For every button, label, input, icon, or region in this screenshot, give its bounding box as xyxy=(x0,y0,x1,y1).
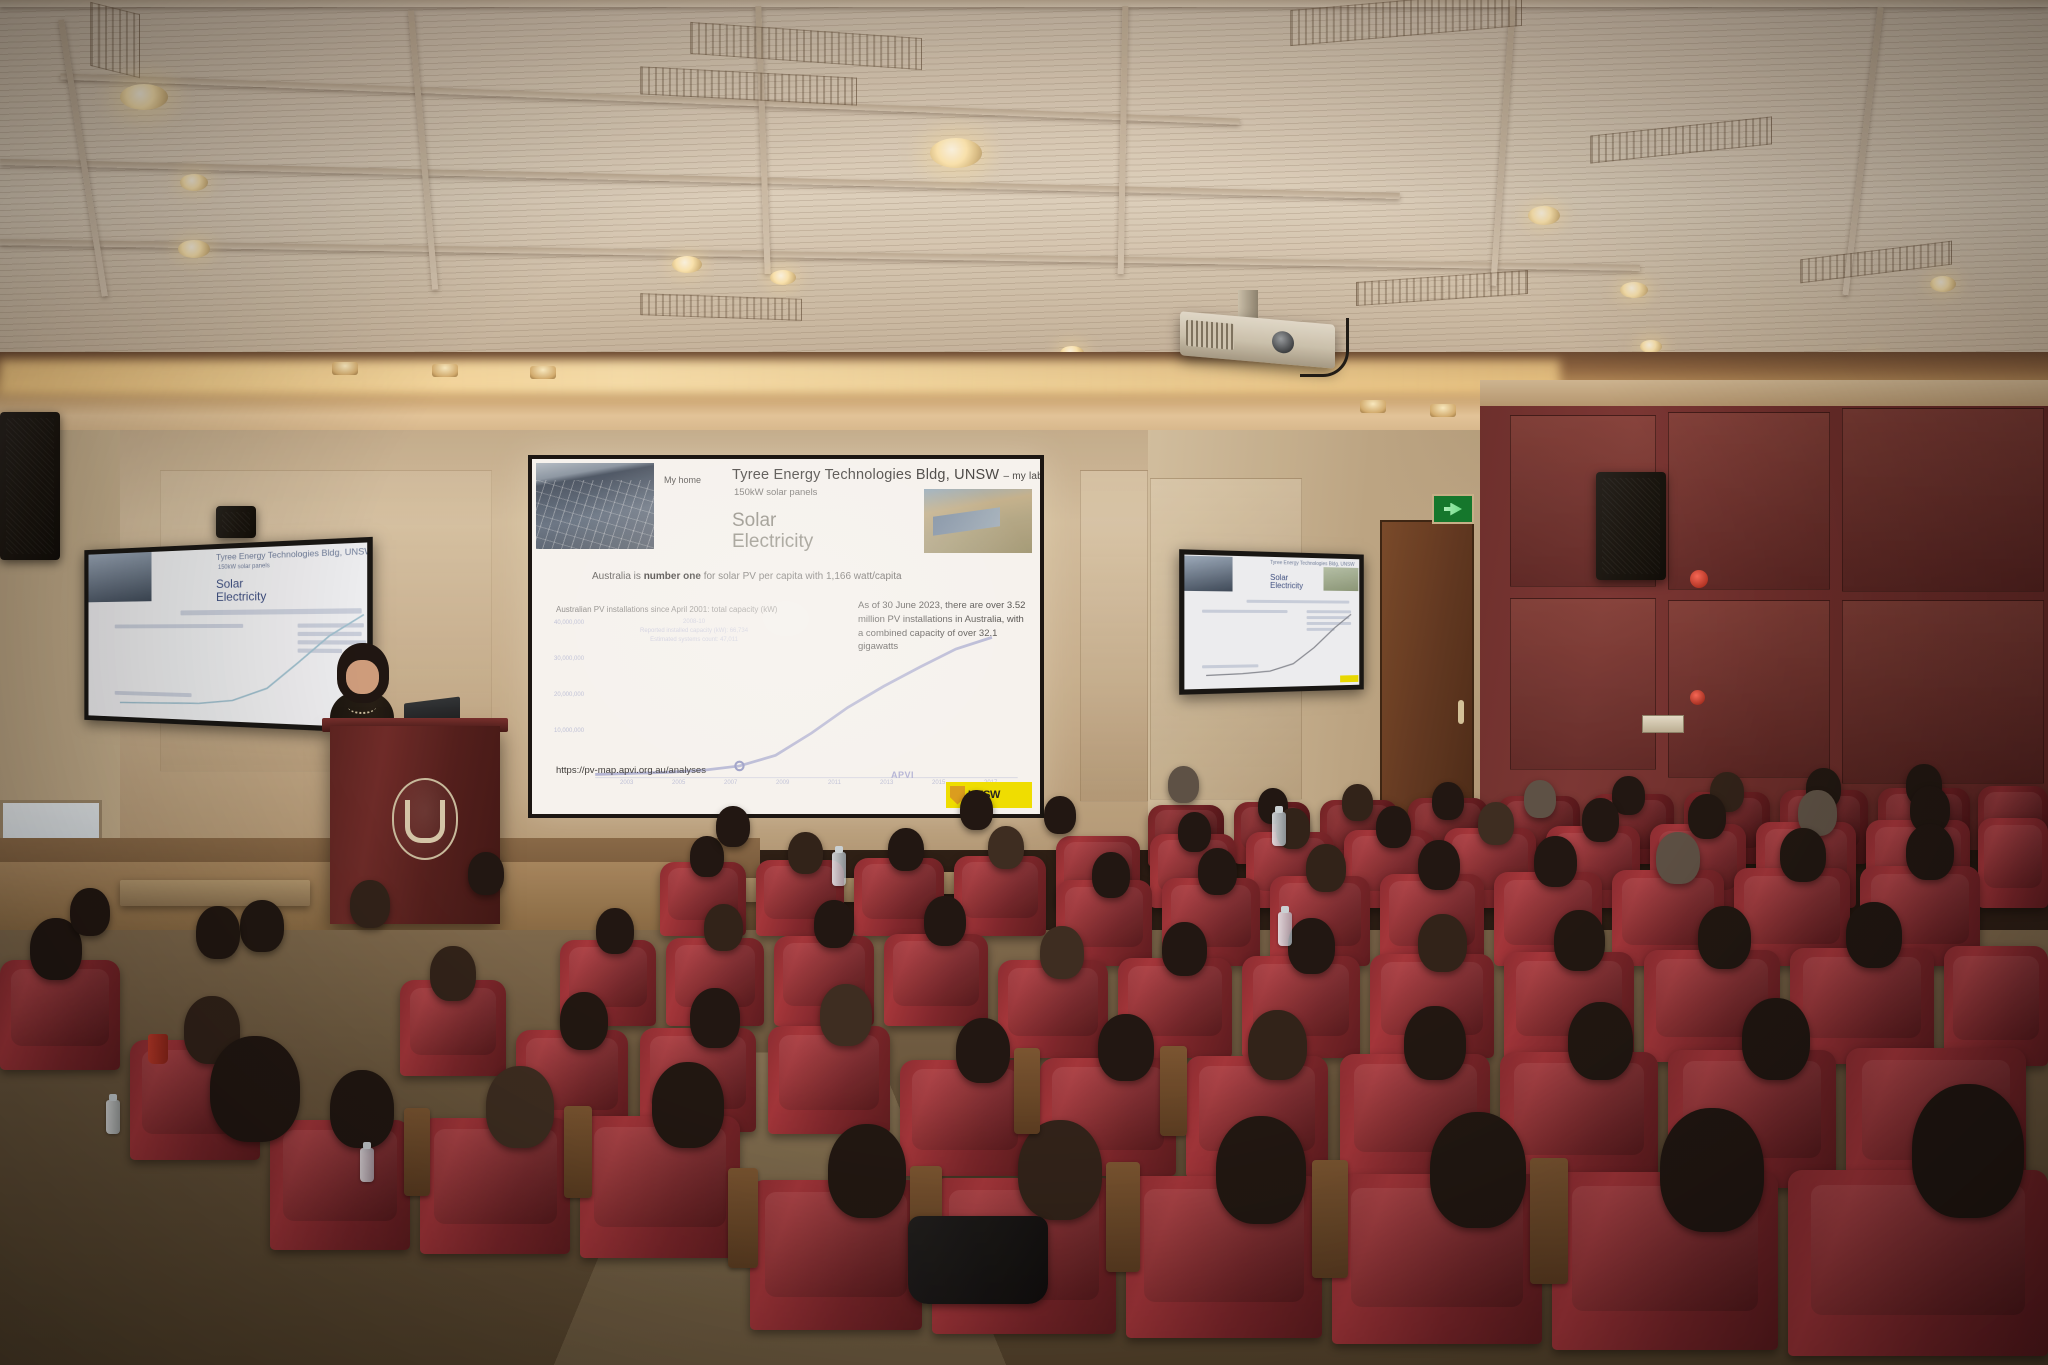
audience-head xyxy=(828,1124,906,1218)
audience-head xyxy=(70,888,110,936)
audience-head xyxy=(814,900,854,948)
ceiling-vent xyxy=(90,2,140,78)
audience-head xyxy=(596,908,634,954)
audience-head xyxy=(1162,922,1207,976)
audience-head xyxy=(1342,784,1373,821)
cove-lamp xyxy=(1430,404,1456,417)
audience-head xyxy=(1306,844,1346,892)
x-tick: 2005 xyxy=(672,780,685,786)
seat[interactable] xyxy=(1978,818,2048,908)
ceiling-light xyxy=(672,256,702,273)
wood-panel xyxy=(1842,408,2044,592)
audience-head xyxy=(1906,824,1954,880)
x-tick: 2009 xyxy=(776,780,789,786)
audience-head xyxy=(1698,906,1751,969)
audience-head xyxy=(1568,1002,1633,1080)
seat-armrest xyxy=(1530,1158,1568,1284)
ceiling-light xyxy=(180,174,208,191)
cove-lamp xyxy=(332,362,358,375)
water-bottle[interactable] xyxy=(832,852,846,886)
solar-roof-photo xyxy=(536,463,654,549)
slide-source-url[interactable]: https://pv-map.apvi.org.au/analyses xyxy=(556,765,706,776)
wall-display-right-screen: Tyree Energy Technologies Bldg, UNSW Sol… xyxy=(1179,549,1364,695)
projector-vent xyxy=(1186,320,1234,350)
aerial-building-photo xyxy=(924,489,1032,553)
audience-head xyxy=(1742,998,1810,1080)
water-bottle[interactable] xyxy=(1278,912,1292,946)
slide-heading-line1: Solar xyxy=(732,511,813,532)
audience-head xyxy=(210,1036,300,1142)
seat-armrest xyxy=(728,1168,758,1268)
audience-head xyxy=(560,992,608,1050)
speaker-small-left xyxy=(216,506,256,538)
mini-chart-curve xyxy=(1179,549,1364,695)
audience-head xyxy=(1418,914,1467,972)
audience-head xyxy=(1404,1006,1466,1080)
slide-title-suffix: – my labs xyxy=(1004,471,1041,482)
ceiling-light xyxy=(120,84,168,110)
audience-head xyxy=(690,836,724,877)
presenter-necklace xyxy=(348,700,376,714)
drink-cup[interactable] xyxy=(148,1034,168,1064)
projector-lens xyxy=(1272,330,1294,354)
audience-head xyxy=(1478,802,1514,845)
audience-head xyxy=(1430,1112,1526,1228)
floor-bag xyxy=(908,1216,1048,1304)
ceiling-light xyxy=(1930,276,1956,292)
x-tick: 2015 xyxy=(932,780,945,786)
audience-head xyxy=(1660,1108,1764,1232)
audience-head xyxy=(960,790,993,830)
presentation-slide: My home Tyree Energy Technologies Bldg, … xyxy=(532,459,1040,814)
audience-head xyxy=(1656,832,1700,884)
audience-head xyxy=(1288,918,1335,974)
lecture-hall-photo: My home Tyree Energy Technologies Bldg, … xyxy=(0,0,2048,1365)
audience-head xyxy=(430,946,476,1001)
audience-head xyxy=(468,852,504,895)
audience-head xyxy=(956,1018,1010,1083)
exit-sign-icon xyxy=(1432,494,1474,524)
slide-statement: Australia is number one for solar PV per… xyxy=(592,571,902,582)
ceiling-light xyxy=(178,240,210,258)
chart-svg xyxy=(554,614,1028,784)
x-tick: 2007 xyxy=(724,780,737,786)
cove-lamp xyxy=(432,364,458,377)
audience-head xyxy=(350,880,390,928)
slide-subtitle: 150kW solar panels xyxy=(734,487,817,498)
projection-screen: My home Tyree Energy Technologies Bldg, … xyxy=(528,455,1044,818)
wood-panel xyxy=(1842,600,2044,784)
cove-lamp xyxy=(530,366,556,379)
ceiling-light xyxy=(1620,282,1648,298)
wood-wall-cap xyxy=(1480,380,2048,406)
audience-head xyxy=(820,984,872,1046)
audience-head xyxy=(1418,840,1460,890)
water-bottle[interactable] xyxy=(360,1148,374,1182)
ceiling-light xyxy=(770,270,796,285)
wall-switch[interactable] xyxy=(1642,715,1684,733)
audience-head xyxy=(690,988,740,1048)
wood-panel xyxy=(1668,600,1830,778)
x-tick: 2011 xyxy=(828,780,841,786)
ceiling-light xyxy=(930,138,982,168)
presenter-face xyxy=(346,660,379,694)
audience-head xyxy=(1098,1014,1154,1081)
wood-panel xyxy=(1668,412,1830,590)
wall-panel xyxy=(1080,470,1148,802)
audience-head xyxy=(1912,1084,2024,1218)
slide-heading-line2: Electricity xyxy=(732,532,813,553)
audience-head xyxy=(1092,852,1130,898)
pv-capacity-chart: 2008-10 Reported installed capacity (kW)… xyxy=(554,614,1028,784)
statement-bold: number one xyxy=(644,571,701,582)
speaker-right xyxy=(1596,472,1666,580)
audience-head xyxy=(988,826,1024,869)
seat-armrest xyxy=(1014,1048,1040,1134)
x-tick: 2013 xyxy=(880,780,893,786)
audience-head xyxy=(1376,806,1411,848)
audience-head xyxy=(196,906,240,959)
audience-head xyxy=(1018,1120,1102,1220)
audience-head xyxy=(1780,828,1826,882)
seat-armrest xyxy=(404,1108,430,1196)
water-bottle[interactable] xyxy=(1272,812,1286,846)
audience-head xyxy=(1432,782,1464,820)
front-table xyxy=(120,880,310,906)
fire-alarm-icon xyxy=(1690,570,1708,588)
projector-cable xyxy=(1300,318,1349,377)
slide-title: Tyree Energy Technologies Bldg, UNSW – m… xyxy=(732,467,1040,483)
audience-head xyxy=(788,832,823,874)
x-tick: 2003 xyxy=(620,780,633,786)
audience-head xyxy=(330,1070,394,1148)
seat[interactable] xyxy=(768,1026,890,1134)
audience-head xyxy=(1554,910,1605,971)
seat-armrest xyxy=(1106,1162,1140,1272)
mini-unsw-logo xyxy=(1340,675,1358,682)
pv-capacity-line xyxy=(595,637,992,774)
slide-heading: Solar Electricity xyxy=(732,511,813,552)
audience-head xyxy=(1582,798,1619,842)
door-handle[interactable] xyxy=(1458,700,1464,724)
audience-head xyxy=(888,828,924,871)
wall-display-right: Tyree Energy Technologies Bldg, UNSW Sol… xyxy=(1179,549,1364,695)
chart-caption: Australian PV installations since April … xyxy=(556,605,777,614)
audience-head xyxy=(240,900,284,952)
audience-head xyxy=(1044,796,1076,834)
audience-head xyxy=(1040,926,1084,979)
audience-head xyxy=(1198,848,1237,895)
audience-head xyxy=(704,904,743,951)
speaker-left xyxy=(0,412,60,560)
fire-alarm-icon xyxy=(1690,690,1705,705)
university-crest-icon xyxy=(392,778,458,860)
slide-my-home-label: My home xyxy=(664,475,701,485)
seat-armrest xyxy=(564,1106,592,1198)
audience-head xyxy=(652,1062,724,1148)
statement-suffix: for solar PV per capita with 1,166 watt/… xyxy=(704,571,902,582)
seat-armrest xyxy=(1312,1160,1348,1278)
audience-head xyxy=(1178,812,1211,852)
audience-head xyxy=(716,806,750,847)
ceiling-light xyxy=(1528,206,1560,225)
audience-head xyxy=(924,896,966,946)
audience-head xyxy=(1524,780,1556,818)
apvi-logo: APVI xyxy=(891,770,914,780)
slide-title-main: Tyree Energy Technologies Bldg, UNSW xyxy=(732,467,999,483)
audience-head xyxy=(1248,1010,1307,1080)
audience-head xyxy=(486,1066,554,1148)
audience-head xyxy=(1168,766,1199,803)
seat-armrest xyxy=(1160,1046,1187,1136)
seat[interactable] xyxy=(884,934,988,1026)
water-bottle[interactable] xyxy=(106,1100,120,1134)
audience-head xyxy=(1216,1116,1306,1224)
wood-panel xyxy=(1510,598,1656,770)
audience-head xyxy=(1688,794,1726,839)
cove-lamp xyxy=(1360,400,1386,413)
audience-head xyxy=(1534,836,1577,887)
statement-prefix: Australia is xyxy=(592,571,641,582)
audience-head xyxy=(1846,902,1902,968)
